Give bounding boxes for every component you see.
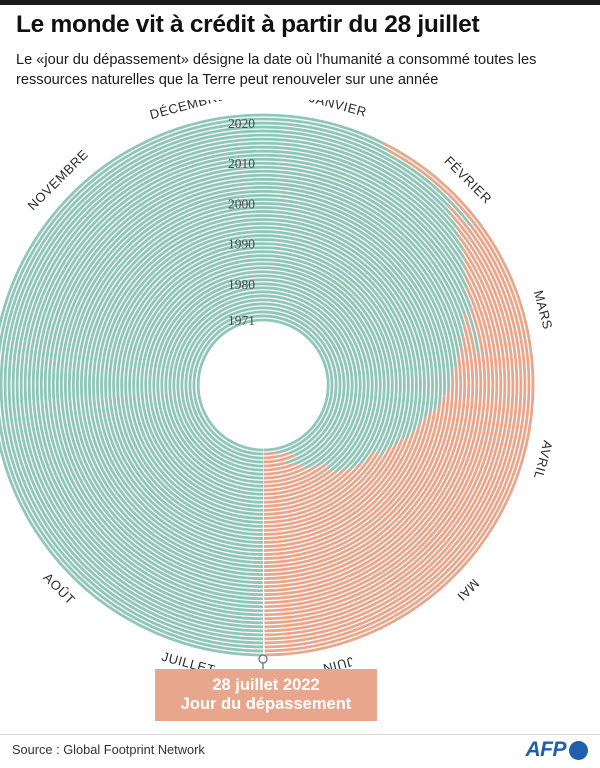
ring-segment-before — [110, 232, 417, 539]
marker-dot — [259, 655, 267, 663]
ring-segment-before — [162, 284, 364, 486]
ring-segment-before — [194, 316, 332, 454]
afp-logo-text: AFP — [526, 738, 567, 762]
page-title: Le monde vit à crédit à partir du 28 jui… — [16, 12, 588, 39]
ring-segment-before — [81, 203, 444, 566]
top-rule — [0, 0, 600, 5]
year-tick-label: 1990 — [228, 237, 255, 252]
infographic-page: Le monde vit à crédit à partir du 28 jui… — [0, 0, 600, 768]
month-label: AVRIL — [531, 439, 556, 481]
ring-segment-before — [190, 312, 336, 458]
afp-logo: AFP — [526, 738, 589, 762]
year-tick-label: 2020 — [228, 116, 255, 131]
page-subtitle: Le «jour du dépassement» désigne la date… — [16, 50, 588, 90]
overshoot-radial-plot: 197119801990200020102020 JANVIERFÉVRIERM… — [0, 100, 600, 700]
afp-logo-dot — [569, 741, 588, 760]
ring-segment-before — [186, 308, 340, 462]
callout-box: 28 juillet 2022 Jour du dépassement — [155, 669, 377, 721]
year-tick-label: 2010 — [228, 156, 255, 171]
ring-segment-before — [182, 304, 344, 466]
footer-rule — [0, 734, 600, 735]
month-label: FÉVRIER — [441, 153, 494, 206]
source-note: Source : Global Footprint Network — [12, 742, 205, 757]
month-label: MARS — [531, 289, 556, 331]
radial-chart: 197119801990200020102020 JANVIERFÉVRIERM… — [0, 100, 600, 700]
year-tick-label: 1980 — [228, 277, 255, 292]
ring-segment-before — [150, 272, 376, 498]
month-label: MAI — [454, 576, 482, 604]
year-tick-label: 1971 — [228, 313, 255, 328]
year-tick-label: 2000 — [228, 196, 255, 211]
ring-segment-before — [98, 220, 429, 551]
month-label: JANVIER — [308, 100, 369, 120]
ring-segment-after — [263, 453, 276, 454]
ring-segment-before — [174, 296, 352, 474]
ring-group — [0, 115, 533, 655]
ring-segment-before — [178, 300, 348, 470]
callout-label: Jour du dépassement — [181, 695, 352, 714]
ring-segment-after — [263, 463, 285, 466]
callout-date: 28 juillet 2022 — [212, 676, 319, 695]
ring-segment-before — [198, 320, 328, 450]
ring-segment-before — [122, 244, 405, 527]
